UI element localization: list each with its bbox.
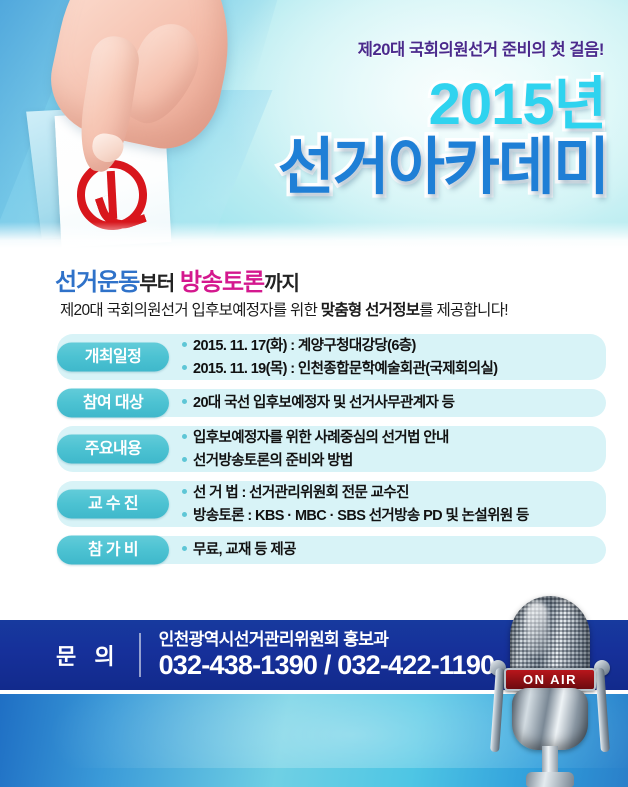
poster-body: 선거운동부터 방송토론까지 제20대 국회의원선거 입후보예정자를 위한 맞춤형…	[0, 248, 628, 617]
contact-bar: 문 의 인천광역시선거관리위원회 홍보과 032-438-1390 / 032-…	[0, 620, 628, 690]
voting-seal-icon	[75, 158, 149, 232]
bullet-dot-icon	[182, 457, 187, 462]
header-bottom-fade	[0, 222, 628, 248]
contact-organization: 인천광역시선거관리위원회 홍보과	[159, 630, 495, 650]
poster-header: 제20대 국회의원선거 준비의 첫 걸음! 2015년 선거아카데미	[0, 0, 628, 248]
row-label-participants: 참여 대상	[57, 389, 169, 418]
title-main: 선거아카데미	[278, 137, 608, 199]
subhead-desc-bold: 맞춤형 선거정보	[321, 302, 420, 319]
info-row-contents: 주요내용 입후보예정자를 위한 사례중심의 선거법 안내 선거방송토론의 준비와…	[0, 426, 628, 472]
info-row-schedule: 개최일정 2015. 11. 17(화) : 계양구청대강당(6층) 2015.…	[0, 334, 628, 380]
bullet-dot-icon	[182, 489, 187, 494]
bullet-dot-icon	[182, 546, 187, 551]
subhead-line: 선거운동부터 방송토론까지	[55, 262, 299, 297]
row-items-fee: 무료, 교재 등 제공	[182, 536, 602, 564]
list-item: 방송토론 : KBS · MBC · SBS 선거방송 PD 및 논설위원 등	[182, 506, 602, 526]
contact-telephone: 032-438-1390 / 032-422-1190	[159, 650, 495, 680]
row-items-participants: 20대 국선 입후보예정자 및 선거사무관계자 등	[182, 389, 602, 417]
ballot-box-slot	[26, 105, 164, 238]
row-label-contents: 주요내용	[57, 435, 169, 464]
list-item-text: 방송토론 : KBS · MBC · SBS 선거방송 PD 및 논설위원 등	[193, 506, 529, 526]
poster-root: 제20대 국회의원선거 준비의 첫 걸음! 2015년 선거아카데미 선거운동부…	[0, 0, 628, 787]
bottom-band	[0, 694, 628, 787]
info-row-fee: 참 가 비 무료, 교재 등 제공	[0, 536, 628, 564]
row-items-schedule: 2015. 11. 17(화) : 계양구청대강당(6층) 2015. 11. …	[182, 334, 602, 380]
ballot-paper	[55, 110, 172, 248]
bullet-dot-icon	[182, 512, 187, 517]
contact-text-group: 인천광역시선거관리위원회 홍보과 032-438-1390 / 032-422-…	[159, 630, 495, 680]
hand-ballot-illustration	[0, 0, 250, 248]
list-item-text: 2015. 11. 19(목) : 인천종합문학예술회관(국제회의실)	[193, 359, 497, 379]
row-label-schedule: 개최일정	[57, 343, 169, 372]
contact-label: 문 의	[56, 639, 139, 671]
contact-divider	[139, 633, 141, 677]
list-item: 2015. 11. 17(화) : 계양구청대강당(6층)	[182, 336, 602, 356]
list-item: 입후보예정자를 위한 사례중심의 선거법 안내	[182, 428, 602, 448]
list-item: 무료, 교재 등 제공	[182, 540, 602, 560]
bullet-dot-icon	[182, 342, 187, 347]
subhead-desc-pre: 제20대 국회의원선거 입후보예정자를 위한	[60, 302, 321, 319]
subhead-description: 제20대 국회의원선거 입후보예정자를 위한 맞춤형 선거정보를 제공합니다!	[60, 298, 508, 320]
header-sheen-left-lower	[0, 90, 273, 248]
hand-finger-index	[74, 33, 143, 175]
bullet-dot-icon	[182, 399, 187, 404]
row-label-faculty: 교 수 진	[57, 490, 169, 519]
list-item-text: 20대 국선 입후보예정자 및 선거사무관계자 등	[193, 393, 454, 413]
subhead-part-debate: 방송토론	[180, 269, 264, 296]
hand-shape	[41, 0, 250, 158]
list-item: 20대 국선 입후보예정자 및 선거사무관계자 등	[182, 393, 602, 413]
subhead-part-from: 부터	[139, 273, 174, 295]
bullet-dot-icon	[182, 365, 187, 370]
list-item-text: 2015. 11. 17(화) : 계양구청대강당(6층)	[193, 336, 416, 356]
title-year: 2015년	[429, 76, 606, 134]
hand-fingernail	[89, 131, 125, 165]
header-tagline: 제20대 국회의원선거 준비의 첫 걸음!	[224, 36, 604, 60]
list-item-text: 선 거 법 : 선거관리위원회 전문 교수진	[193, 483, 409, 503]
subhead-desc-post: 를 제공합니다!	[419, 302, 508, 319]
info-row-participants: 참여 대상 20대 국선 입후보예정자 및 선거사무관계자 등	[0, 389, 628, 417]
list-item-text: 입후보예정자를 위한 사례중심의 선거법 안내	[193, 428, 449, 448]
bullet-dot-icon	[182, 434, 187, 439]
list-item: 선거방송토론의 준비와 방법	[182, 451, 602, 471]
subhead-part-to: 까지	[264, 273, 299, 295]
list-item-text: 무료, 교재 등 제공	[193, 540, 296, 560]
row-label-fee: 참 가 비	[57, 536, 169, 565]
hand-finger-secondary	[110, 14, 211, 135]
contact-inner: 문 의 인천광역시선거관리위원회 홍보과 032-438-1390 / 032-…	[56, 620, 494, 690]
row-items-contents: 입후보예정자를 위한 사례중심의 선거법 안내 선거방송토론의 준비와 방법	[182, 426, 602, 472]
info-rows: 개최일정 2015. 11. 17(화) : 계양구청대강당(6층) 2015.…	[0, 334, 628, 573]
list-item: 선 거 법 : 선거관리위원회 전문 교수진	[182, 483, 602, 503]
list-item-text: 선거방송토론의 준비와 방법	[193, 451, 353, 471]
subhead-part-campaign: 선거운동	[55, 269, 139, 296]
list-item: 2015. 11. 19(목) : 인천종합문학예술회관(국제회의실)	[182, 359, 602, 379]
row-items-faculty: 선 거 법 : 선거관리위원회 전문 교수진 방송토론 : KBS · MBC …	[182, 481, 602, 527]
info-row-faculty: 교 수 진 선 거 법 : 선거관리위원회 전문 교수진 방송토론 : KBS …	[0, 481, 628, 527]
